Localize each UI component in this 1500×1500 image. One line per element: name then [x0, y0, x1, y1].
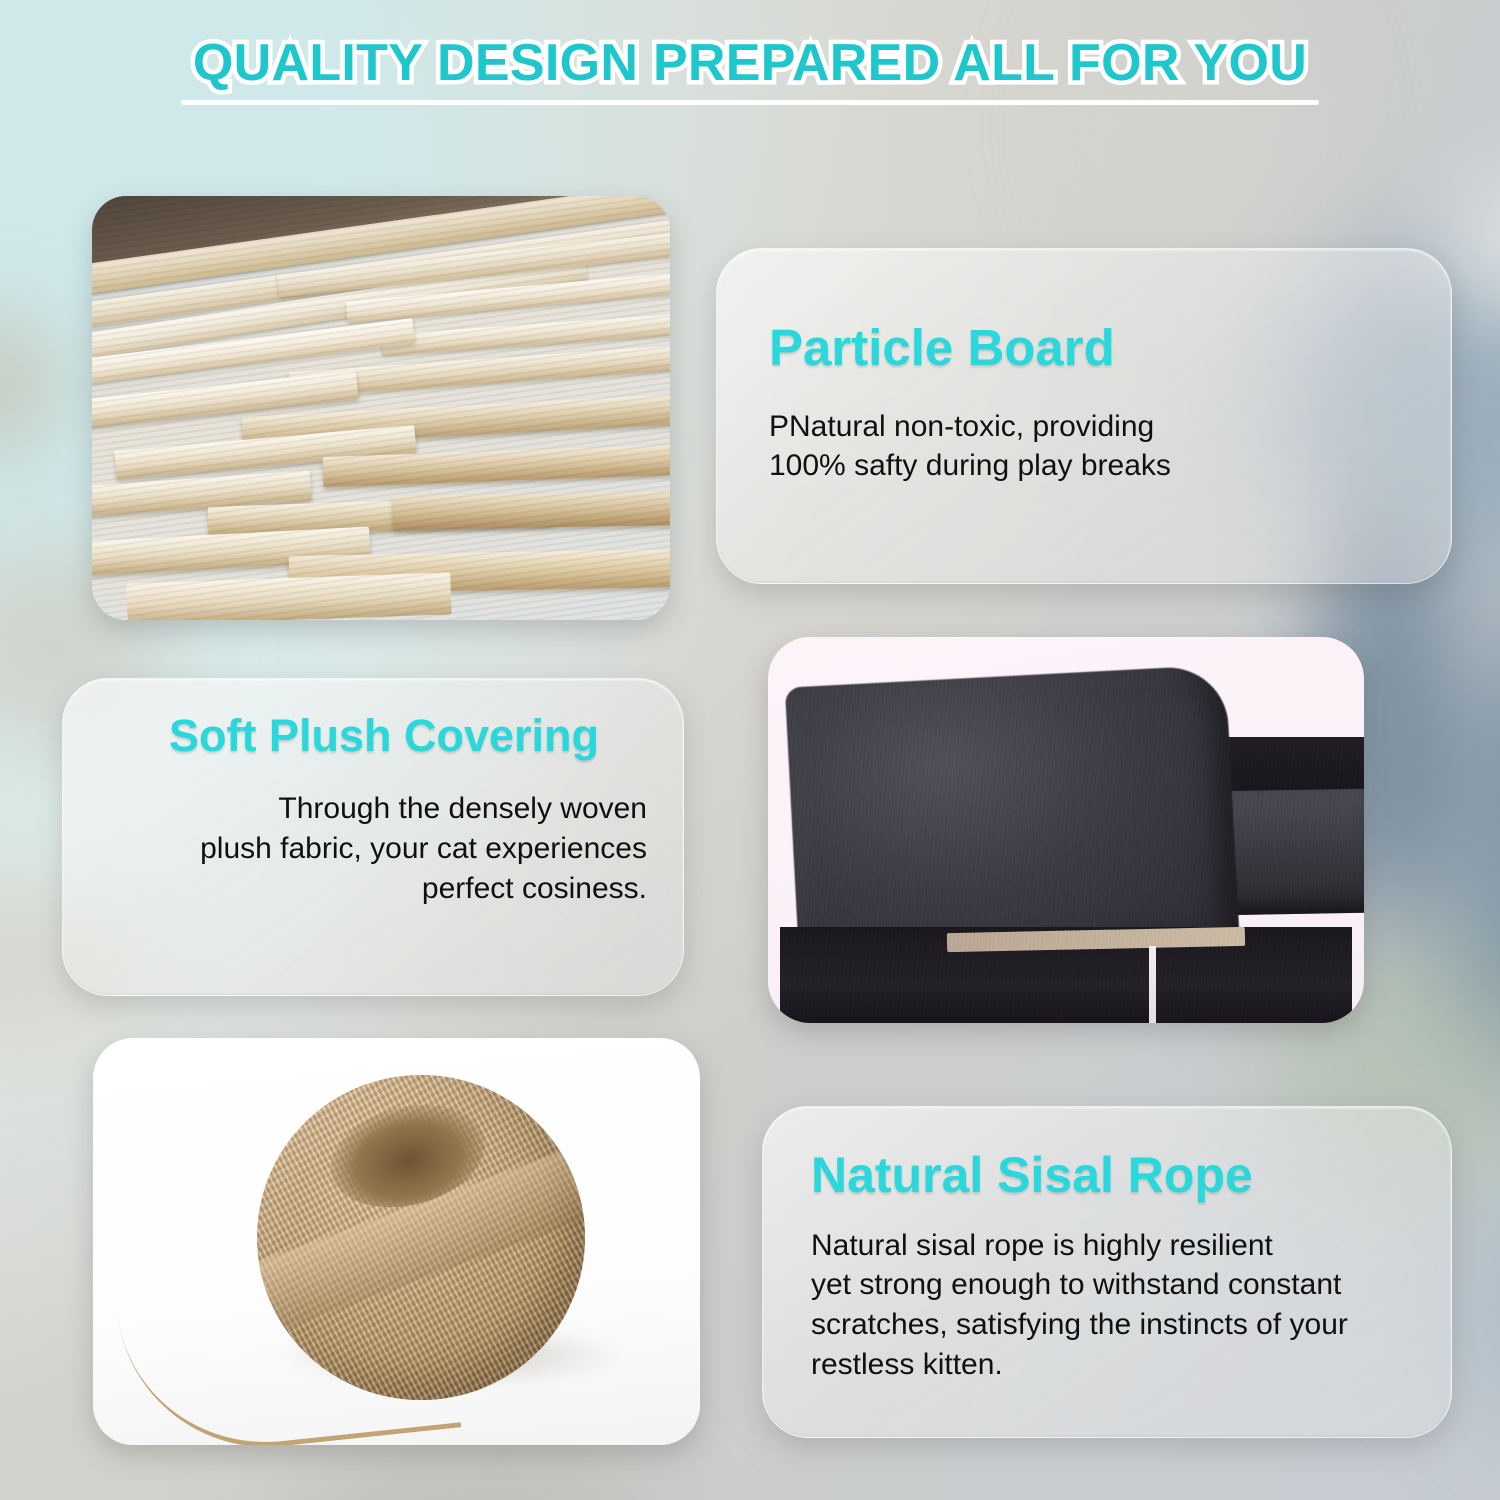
header: QUALITY DESIGN PREPARED ALL FOR YOU: [0, 36, 1500, 105]
feature-card-soft-plush-covering: Soft Plush Covering Through the densely …: [62, 678, 684, 996]
plush-fabric-image: [768, 637, 1364, 1023]
sisal-twine-ball: [257, 1075, 585, 1401]
soft-plush-body: Through the densely woven plush fabric, …: [63, 789, 647, 909]
soft-plush-body-line-3: perfect cosiness.: [63, 869, 647, 909]
particle-board-image: [92, 196, 670, 620]
sisal-rope-body-line-1: Natural sisal rope is highly resilient: [811, 1226, 1451, 1266]
sisal-rope-body: Natural sisal rope is highly resilient y…: [811, 1226, 1451, 1386]
sisal-rope-body-line-2: yet strong enough to withstand constant: [811, 1265, 1451, 1305]
feature-card-particle-board: Particle Board PNatural non-toxic, provi…: [716, 248, 1452, 584]
title-underline: [181, 100, 1319, 105]
sisal-rope-body-line-3: scratches, satisfying the instincts of y…: [811, 1305, 1451, 1345]
page-title: QUALITY DESIGN PREPARED ALL FOR YOU: [193, 36, 1307, 91]
sisal-rope-image: [93, 1038, 700, 1445]
particle-board-body-line-2: 100% safty during play breaks: [769, 446, 1451, 486]
feature-card-natural-sisal-rope: Natural Sisal Rope Natural sisal rope is…: [762, 1106, 1452, 1438]
soft-plush-body-line-2: plush fabric, your cat experiences: [63, 829, 647, 869]
particle-texture-overlay: [92, 196, 670, 620]
particle-board-body-line-1: PNatural non-toxic, providing: [769, 407, 1451, 447]
sisal-rope-body-line-4: restless kitten.: [811, 1345, 1451, 1385]
plush-fur-texture: [768, 637, 1364, 1023]
sisal-rope-heading: Natural Sisal Rope: [811, 1149, 1451, 1202]
particle-board-heading: Particle Board: [769, 321, 1451, 375]
soft-plush-body-line-1: Through the densely woven: [63, 789, 647, 829]
soft-plush-heading: Soft Plush Covering: [63, 712, 683, 759]
particle-board-body: PNatural non-toxic, providing 100% safty…: [769, 407, 1451, 487]
